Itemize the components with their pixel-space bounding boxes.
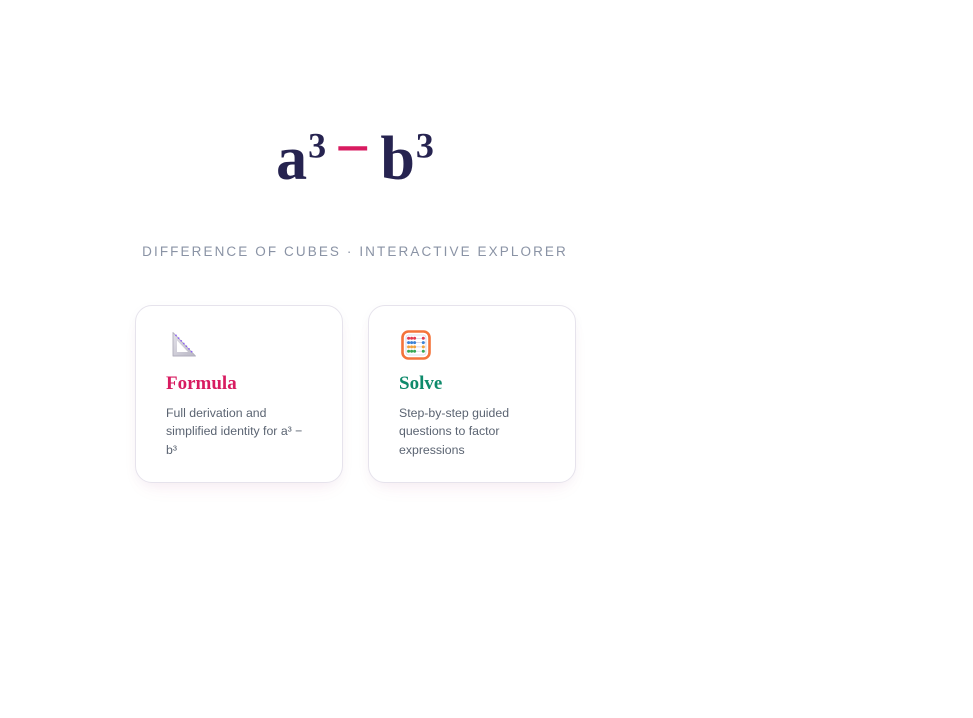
- card-title-solve: Solve: [399, 374, 548, 395]
- page-title: a3−b3: [0, 128, 710, 190]
- abacus-icon: [399, 328, 433, 362]
- hero-heading: a3−b3: [0, 128, 710, 190]
- card-solve[interactable]: Solve Step-by-step guided questions to f…: [368, 305, 576, 483]
- card-description-formula: Full derivation and simplified identity …: [166, 404, 314, 460]
- app-root: a3−b3 DIFFERENCE OF CUBES · INTERACTIVE …: [0, 0, 973, 718]
- title-exponent-a: 3: [308, 125, 326, 165]
- card-list: Formula Full derivation and simplified i…: [135, 305, 576, 483]
- card-description-solve: Step-by-step guided questions to factor …: [399, 404, 547, 460]
- triangular-ruler-icon: [166, 328, 200, 362]
- card-title-formula: Formula: [166, 374, 315, 395]
- title-term-a: a: [276, 125, 308, 193]
- card-formula[interactable]: Formula Full derivation and simplified i…: [135, 305, 343, 483]
- page-subtitle: DIFFERENCE OF CUBES · INTERACTIVE EXPLOR…: [0, 244, 710, 259]
- title-exponent-b: 3: [416, 125, 434, 165]
- title-minus-operator: −: [326, 118, 380, 180]
- title-term-b: b: [380, 125, 415, 193]
